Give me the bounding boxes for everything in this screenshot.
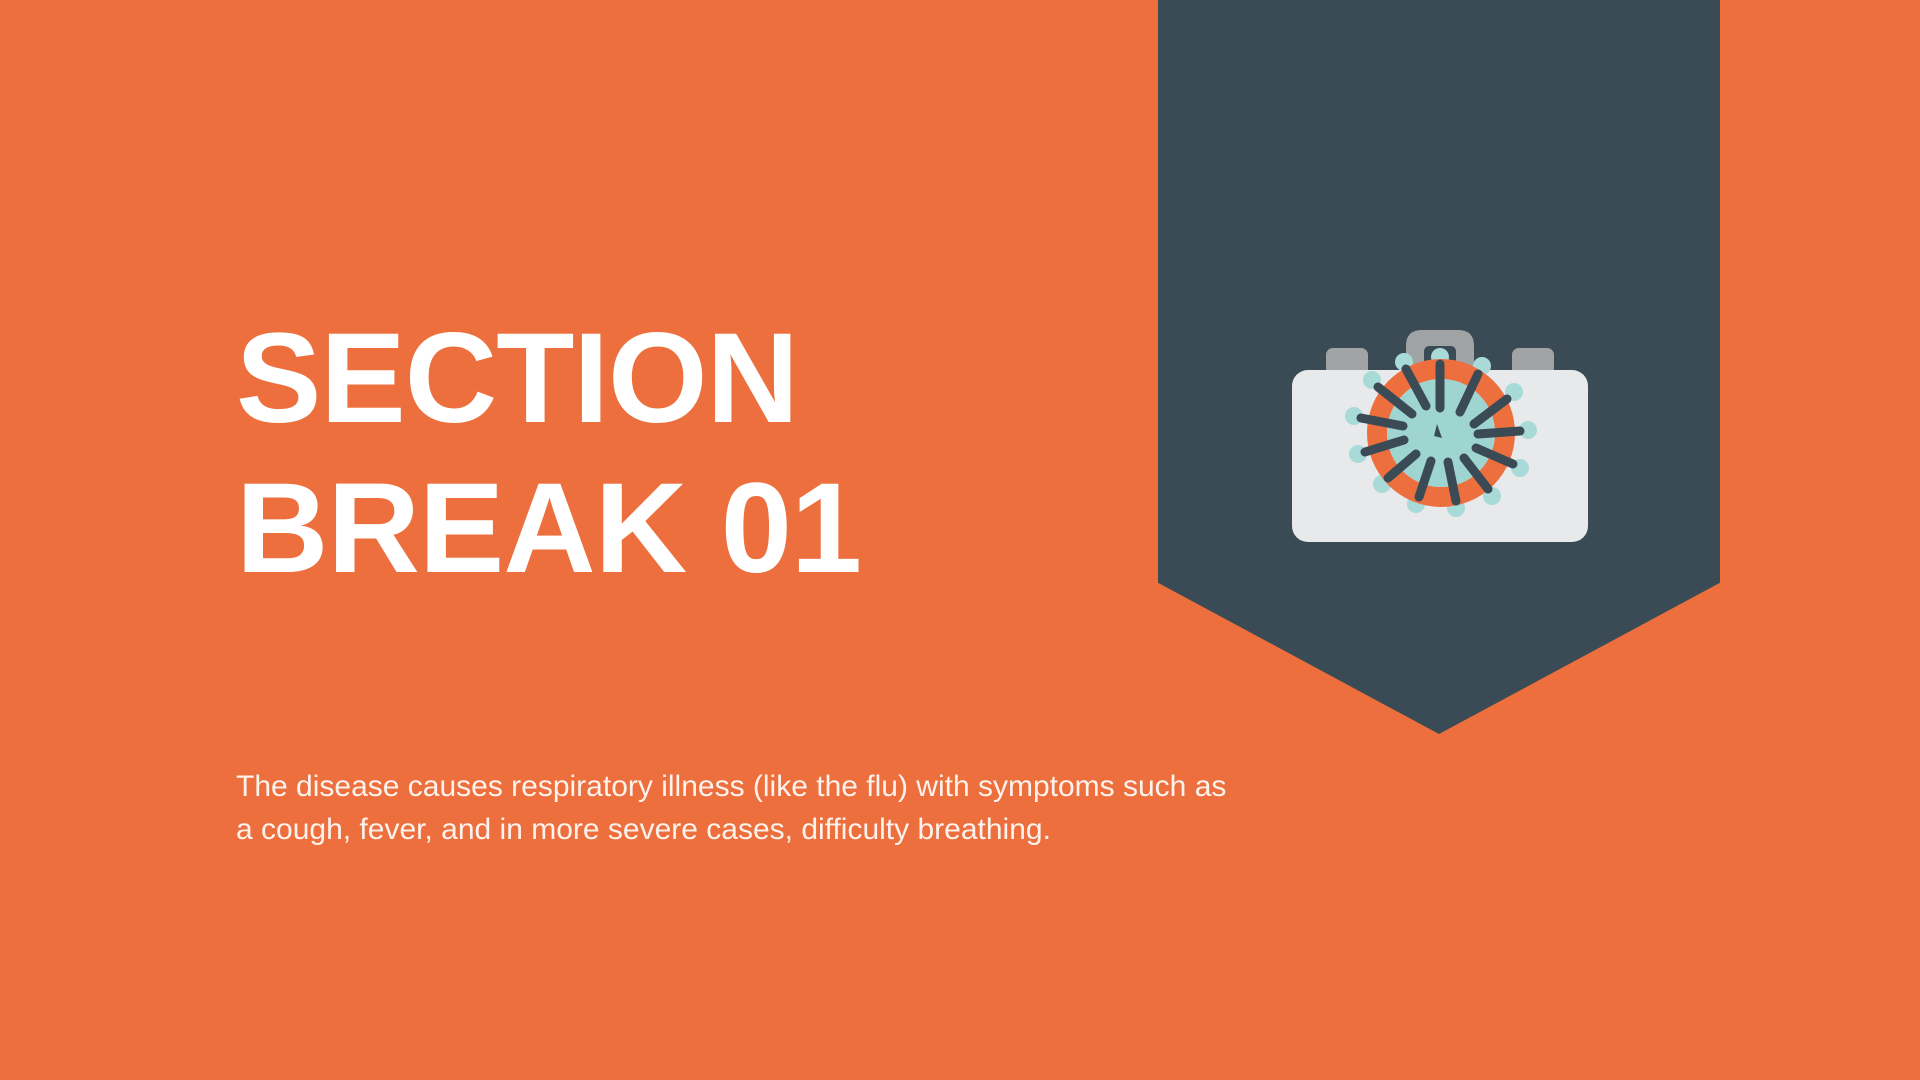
section-break-slide: SECTION BREAK 01 The disease causes resp…: [0, 0, 1920, 1080]
title-line-1: SECTION: [236, 318, 1096, 440]
body-paragraph: The disease causes respiratory illness (…: [236, 766, 1596, 851]
title-line-2: BREAK 01: [236, 468, 1096, 590]
page-title: SECTION BREAK 01: [236, 318, 1096, 589]
body-line-1: The disease causes respiratory illness (…: [236, 766, 1596, 809]
medical-case-virus-icon: [1290, 312, 1590, 544]
body-line-2: a cough, fever, and in more severe cases…: [236, 809, 1596, 852]
pennant-banner: [1158, 0, 1720, 734]
